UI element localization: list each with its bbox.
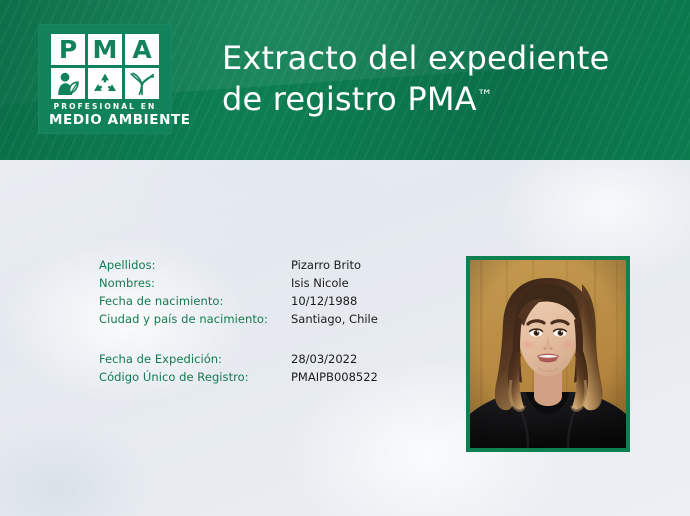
field-row-codigo-unico-registro: Código Único de Registro: PMAIPB008522: [99, 370, 399, 388]
person-leaf-icon: [51, 68, 85, 99]
logo-tagline-top: PROFESIONAL EN: [51, 103, 159, 111]
portrait-photo-frame: [466, 256, 630, 452]
field-label-codigo-unico-registro: Código Único de Registro:: [99, 370, 291, 384]
logo-tagline-bottom: MEDIO AMBIENTE: [49, 114, 161, 128]
field-value-fecha-expedicion: 28/03/2022: [291, 352, 357, 366]
page-title-line-2-text: de registro PMA: [222, 80, 477, 118]
pma-registry-extract-card: P M A: [0, 0, 690, 516]
field-label-ciudad-pais-nacimiento: Ciudad y país de nacimiento:: [99, 312, 291, 326]
field-row-ciudad-pais-nacimiento: Ciudad y país de nacimiento: Santiago, C…: [99, 312, 399, 330]
pma-logo: P M A: [38, 24, 172, 134]
logo-icon-grid: P M A: [51, 34, 159, 99]
field-value-fecha-nacimiento: 10/12/1988: [291, 294, 357, 308]
field-value-ciudad-pais-nacimiento: Santiago, Chile: [291, 312, 378, 326]
logo-letter-cell-m: M: [88, 34, 122, 65]
field-label-apellidos: Apellidos:: [99, 258, 291, 272]
field-group-separator: [99, 330, 399, 352]
logo-letter-p: P: [59, 37, 77, 62]
field-value-nombres: Isis Nicole: [291, 276, 349, 290]
trademark-symbol: ™: [477, 86, 493, 105]
wind-turbine-icon: [125, 68, 159, 99]
field-label-fecha-expedicion: Fecha de Expedición:: [99, 352, 291, 366]
logo-letter-m: M: [93, 37, 118, 62]
field-value-apellidos: Pizarro Brito: [291, 258, 361, 272]
field-label-fecha-nacimiento: Fecha de nacimiento:: [99, 294, 291, 308]
page-title-line-1: Extracto del expediente: [222, 38, 672, 79]
field-row-apellidos: Apellidos: Pizarro Brito: [99, 258, 399, 276]
record-fields: Apellidos: Pizarro Brito Nombres: Isis N…: [99, 258, 399, 388]
page-title-line-2: de registro PMA™: [222, 79, 672, 120]
page-title: Extracto del expediente de registro PMA™: [222, 38, 672, 120]
logo-letter-a: A: [132, 37, 151, 62]
field-label-nombres: Nombres:: [99, 276, 291, 290]
header-banner: P M A: [0, 0, 690, 160]
logo-letter-cell-p: P: [51, 34, 85, 65]
logo-letter-cell-a: A: [125, 34, 159, 65]
field-row-nombres: Nombres: Isis Nicole: [99, 276, 399, 294]
portrait-photo: [470, 260, 626, 448]
field-row-fecha-expedicion: Fecha de Expedición: 28/03/2022: [99, 352, 399, 370]
recycle-icon: [88, 68, 122, 99]
field-value-codigo-unico-registro: PMAIPB008522: [291, 370, 378, 384]
field-row-fecha-nacimiento: Fecha de nacimiento: 10/12/1988: [99, 294, 399, 312]
